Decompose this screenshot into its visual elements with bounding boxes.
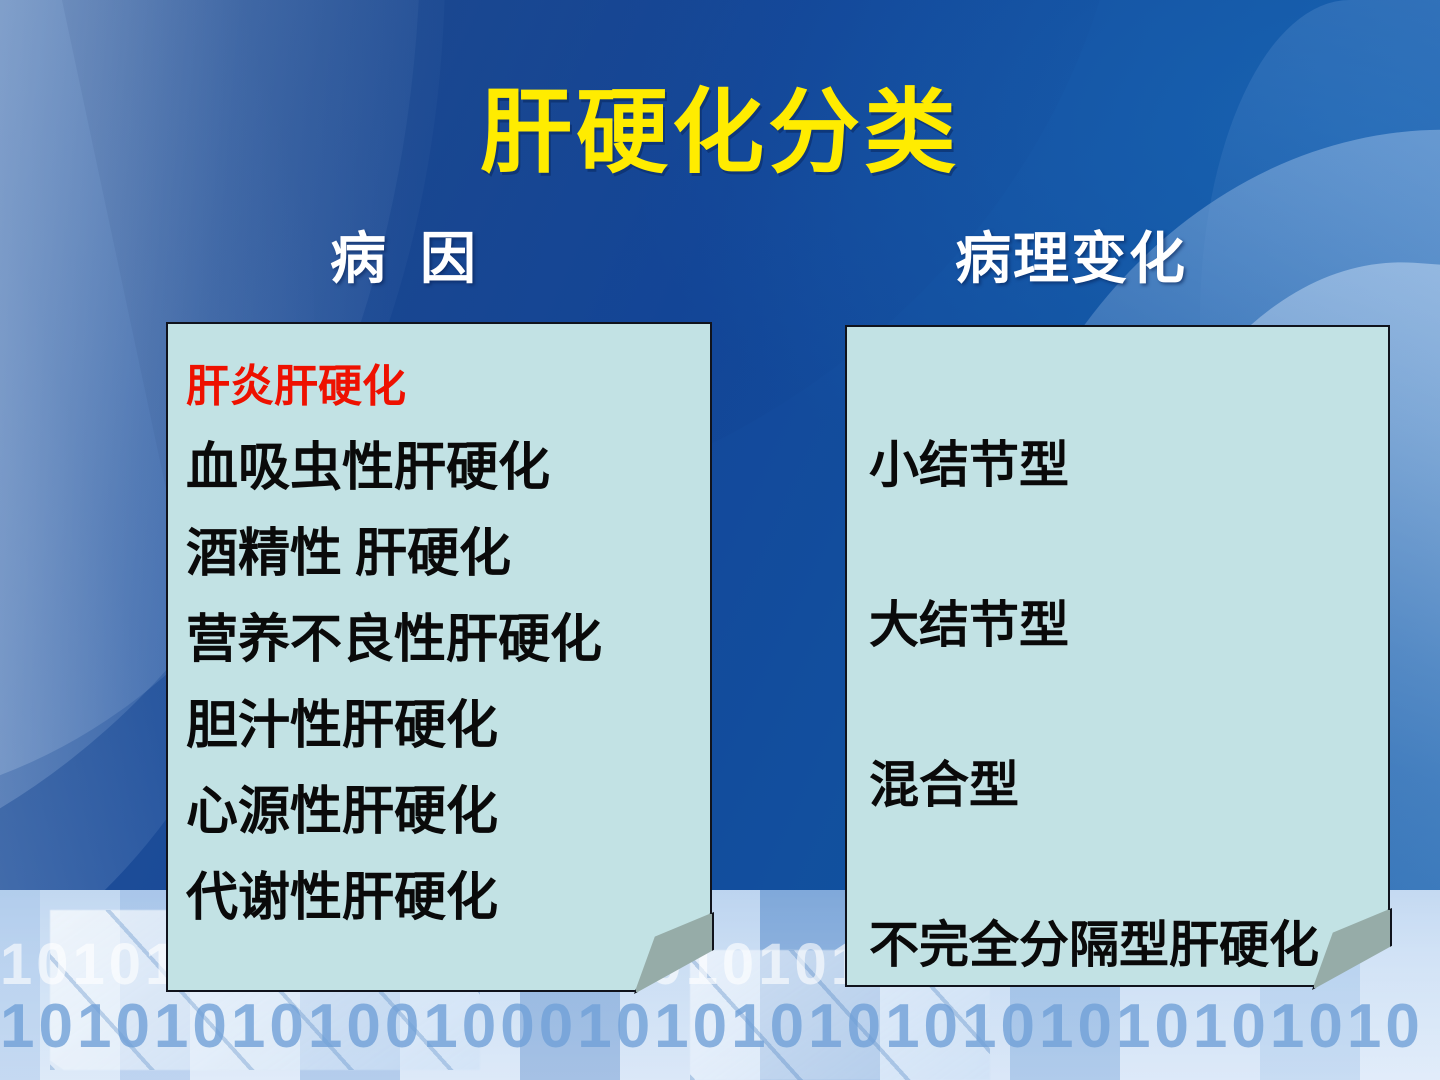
cause-note-box: 肝炎肝硬化 血吸虫性肝硬化 酒精性 肝硬化 营养不良性肝硬化 胆汁性肝硬化 心源… <box>166 322 712 992</box>
list-item: 胆汁性肝硬化 <box>186 684 710 770</box>
slide-canvas: 1010101011010100010101010101010101010 10… <box>0 0 1440 1080</box>
list-item: 营养不良性肝硬化 <box>186 598 710 684</box>
list-item: 代谢性肝硬化 <box>186 856 710 942</box>
column-header-cause: 病 因 <box>330 214 478 295</box>
list-item: 小结节型 <box>869 385 1388 545</box>
pathology-note-box: 小结节型 大结节型 混合型 不完全分隔型肝硬化 <box>845 325 1390 987</box>
binary-digits-row-2: 1010101010010001010101010101010101010 <box>0 991 1440 1062</box>
slide-title: 肝硬化分类 <box>0 58 1440 191</box>
list-item: 心源性肝硬化 <box>186 770 710 856</box>
cause-list: 肝炎肝硬化 血吸虫性肝硬化 酒精性 肝硬化 营养不良性肝硬化 胆汁性肝硬化 心源… <box>168 324 710 990</box>
pathology-list: 小结节型 大结节型 混合型 不完全分隔型肝硬化 <box>847 327 1388 985</box>
column-header-pathology: 病理变化 <box>955 214 1187 295</box>
list-item: 血吸虫性肝硬化 <box>186 426 710 512</box>
list-item: 大结节型 <box>869 545 1388 705</box>
list-item: 酒精性 肝硬化 <box>186 512 710 598</box>
list-item: 肝炎肝硬化 <box>186 348 710 426</box>
list-item: 混合型 <box>869 705 1388 865</box>
